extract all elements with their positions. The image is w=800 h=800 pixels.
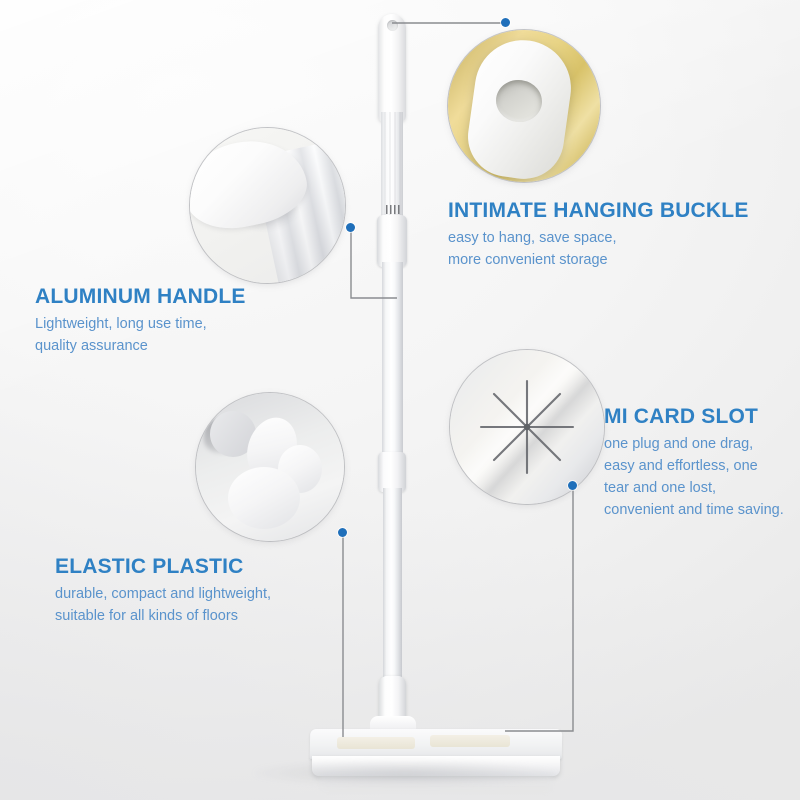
line-to-aluminum-handle: [351, 228, 397, 298]
feature-title-aluminum-handle: ALUMINUM HANDLE: [35, 285, 246, 308]
infographic-canvas: INTIMATE HANGING BUCKLE easy to hang, sa…: [0, 0, 800, 800]
connector-lines: [0, 0, 800, 800]
feature-body-line: one plug and one drag,: [604, 433, 784, 455]
feature-body-line: durable, compact and lightweight,: [55, 583, 271, 605]
feature-body-elastic-plastic: durable, compact and lightweight, suitab…: [55, 583, 271, 627]
feature-body-line: convenient and time saving.: [604, 499, 784, 521]
feature-text-elastic-plastic: ELASTIC PLASTIC durable, compact and lig…: [55, 555, 271, 627]
feature-body-line: easy to hang, save space,: [448, 227, 749, 249]
feature-title-elastic-plastic: ELASTIC PLASTIC: [55, 555, 271, 578]
feature-text-aluminum-handle: ALUMINUM HANDLE Lightweight, long use ti…: [35, 285, 246, 357]
feature-title-mi-card-slot: MI CARD SLOT: [604, 405, 784, 428]
feature-body-aluminum-handle: Lightweight, long use time, quality assu…: [35, 313, 246, 357]
feature-body-line: tear and one lost,: [604, 477, 784, 499]
line-to-mi-card-slot: [505, 487, 573, 731]
dot-aluminum-handle: [346, 223, 355, 232]
dot-elastic-plastic: [338, 528, 347, 537]
feature-body-line: easy and effortless, one: [604, 455, 784, 477]
feature-body-line: more convenient storage: [448, 249, 749, 271]
feature-body-line: Lightweight, long use time,: [35, 313, 246, 335]
feature-text-mi-card-slot: MI CARD SLOT one plug and one drag, easy…: [604, 405, 784, 521]
feature-body-line: quality assurance: [35, 335, 246, 357]
feature-body-line: suitable for all kinds of floors: [55, 605, 271, 627]
dot-hanging-buckle: [501, 18, 510, 27]
dot-mi-card-slot: [568, 481, 577, 490]
feature-body-hanging-buckle: easy to hang, save space, more convenien…: [448, 227, 749, 271]
feature-text-hanging-buckle: INTIMATE HANGING BUCKLE easy to hang, sa…: [448, 199, 749, 271]
feature-body-mi-card-slot: one plug and one drag, easy and effortle…: [604, 433, 784, 521]
feature-title-hanging-buckle: INTIMATE HANGING BUCKLE: [448, 199, 749, 222]
